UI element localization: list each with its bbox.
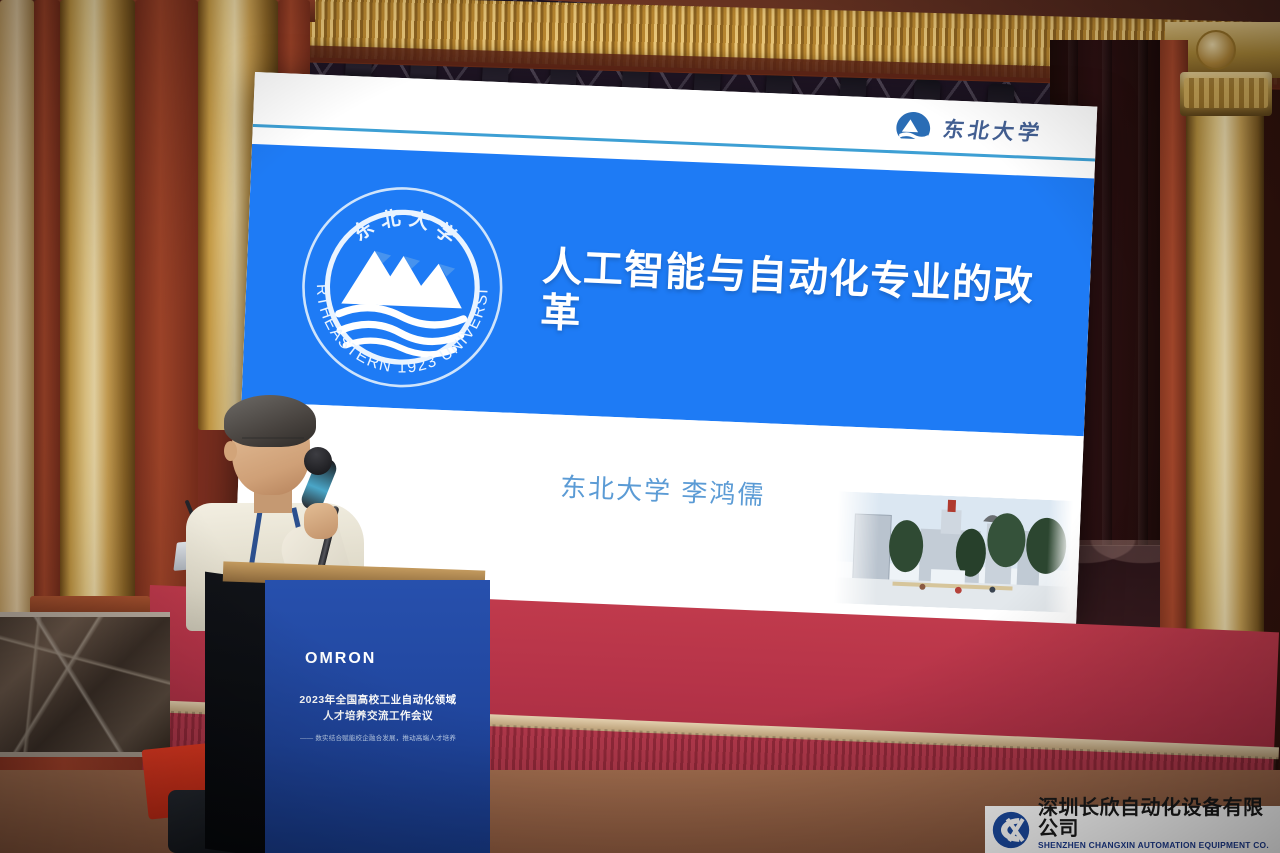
right-column-capital [1180,72,1272,116]
slide-header-university-name: 东北大学 [941,113,1046,147]
speaker-ear [224,441,237,461]
cornice-medallion [1196,30,1236,70]
campus-gate-photo [834,491,1073,613]
watermark-text: 深圳长欣自动化设备有限公司 SHENZHEN CHANGXIN AUTOMATI… [1038,798,1280,853]
speaker-hand [304,503,338,539]
podium-conference-line-1: 2023年全国高校工业自动化领域 [283,692,473,707]
speaker-brow [242,437,304,450]
marble-veining [0,617,170,752]
screenshot-root: 东北大学 东 北 大 学 [0,0,1280,853]
watermark-banner: 深圳长欣自动化设备有限公司 SHENZHEN CHANGXIN AUTOMATI… [985,806,1280,853]
watermark-company-cn: 深圳长欣自动化设备有限公司 [1038,798,1280,840]
podium-side-panel [205,572,267,853]
svg-text:东 北 大 学: 东 北 大 学 [347,203,462,249]
changxin-cx-logo-icon [991,810,1031,850]
podium: OMRON 2023年全国高校工业自动化领域 人才培养交流工作会议 —— 数实结… [205,566,485,853]
left-gold-column-1 [60,0,135,625]
left-pilaster-1 [0,0,34,615]
marble-column-base [0,612,170,757]
northeastern-mountain-wave-mark [892,106,934,148]
northeastern-university-seal: 东 北 大 学 NORTHEASTERN 1923 UNIVERSITY [294,179,510,395]
podium-conference-line-2: 人才培养交流工作会议 [283,708,473,723]
podium-conference-line-3: —— 数实结合赋能校企融合发展，推动高端人才培养 [283,732,473,742]
watermark-company-en: SHENZHEN CHANGXIN AUTOMATION EQUIPMENT C… [1038,840,1280,853]
slide-header-logo: 东北大学 [892,106,1044,152]
omron-logo: OMRON [305,650,376,668]
left-pilaster-2 [34,0,60,620]
